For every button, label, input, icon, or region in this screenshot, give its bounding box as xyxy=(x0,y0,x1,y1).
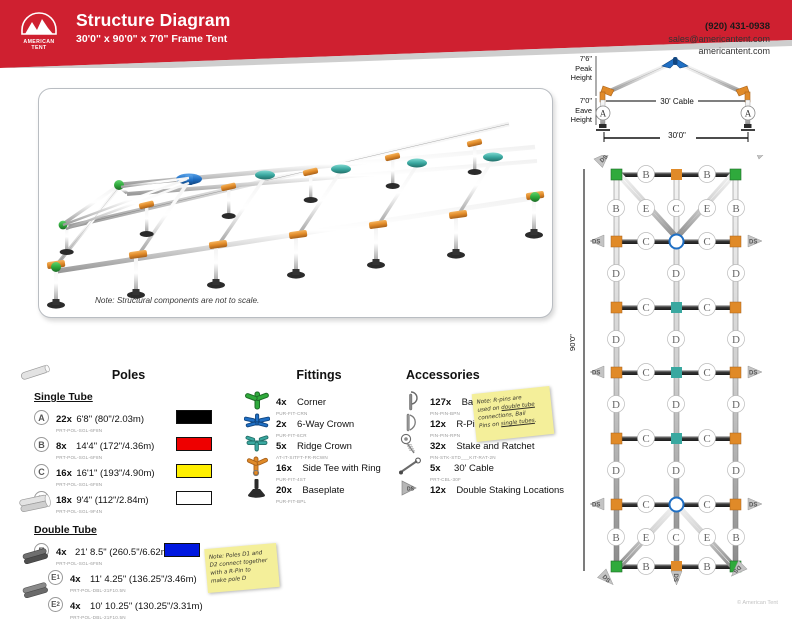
stake-and-ratchet-icon xyxy=(398,433,424,455)
footer-copyright: © American Tent xyxy=(737,600,778,606)
double-tube-heading: Double Tube xyxy=(34,524,241,536)
svg-text:E: E xyxy=(643,532,650,544)
svg-text:C: C xyxy=(703,499,710,511)
baseplate-icon xyxy=(244,477,270,499)
fitting-row-six-way-crown: 2x 6-Way Crown PUR-FIT-6CR xyxy=(244,413,394,435)
elevation-post-code-left: A xyxy=(600,109,607,119)
pole-desc-e2: 10' 10.25" (130.25"/3.31m) xyxy=(90,601,203,612)
pole-pn-c: PRT-POL-SGL-6F8N xyxy=(56,481,155,488)
pole-pn-a: PRT-POL-SGL-6F8N xyxy=(56,427,144,434)
pole-pn-e2: PRT-POL-DBL-21F10.5N xyxy=(70,614,203,621)
fitting-pn-baseplate: PUR-FIT-BPL xyxy=(276,498,345,505)
pole-pn-e: PRT-POL-SGL-6F8N xyxy=(56,560,172,567)
pole-pn-e1: PRT-POL-DBL-21F10.5N xyxy=(70,587,197,594)
svg-text:C: C xyxy=(672,532,679,544)
accessory-qty-stake-ratchet: 32x xyxy=(430,441,446,452)
fitting-desc-ridge-crown: Ridge Crown xyxy=(297,441,352,452)
pole-row-a: A 22x 6'8" (80"/2.03m) PRT-POL-SGL-6F8N xyxy=(16,408,241,435)
contact-email[interactable]: sales@americantent.com xyxy=(668,33,770,45)
accessory-qty-bail-pin: 127x xyxy=(430,397,451,408)
pole-desc-b: 14'4" (172"/4.36m) xyxy=(76,441,154,452)
pole-desc-c: 16'1" (193"/4.90m) xyxy=(76,468,154,479)
svg-text:D: D xyxy=(732,334,740,346)
plan-drawing: B B E E B C B C C D D D C C D D D C C xyxy=(566,155,788,585)
pole-row-b: B 8x 14'4" (172"/4.36m) PRT-POL-SGL-6F8N xyxy=(16,435,241,462)
poles-column: Poles Single Tube A 22x 6'8" (80"/2.03m)… xyxy=(16,368,241,622)
title-block: Structure Diagram 30'0" x 90'0" x 7'0" F… xyxy=(76,9,230,46)
fitting-row-ridge-crown: 5x Ridge Crown AT-IT-SITFT-FR-RCWN xyxy=(244,435,394,457)
pole-code-c: C xyxy=(34,464,49,479)
eave-height-value: 7'0" xyxy=(546,96,592,106)
elevation-view: A A 30'0" 30' Cable 7'6" Peak Height 7'0… xyxy=(570,52,785,147)
svg-text:D: D xyxy=(612,268,620,280)
fitting-qty-baseplate: 20x xyxy=(276,485,292,496)
svg-text:B: B xyxy=(612,532,619,544)
svg-text:B: B xyxy=(612,203,619,215)
svg-text:C: C xyxy=(642,367,649,379)
eave-height-label: Eave xyxy=(546,106,592,116)
pole-desc-d: 9'4" (112"/2.84m) xyxy=(76,495,148,506)
peak-height-label-group: 7'6" Peak Height xyxy=(546,54,592,83)
elevation-drawing: A A 30'0" 30' Cable xyxy=(570,52,785,147)
fitting-qty-ridge-crown: 5x xyxy=(276,441,287,452)
cable-icon xyxy=(398,455,424,477)
tent-frame-3d-drawing xyxy=(39,89,552,317)
svg-text:B: B xyxy=(703,169,710,181)
plan-view: 90'0" xyxy=(566,155,788,585)
svg-text:C: C xyxy=(703,367,710,379)
american-tent-logo: AMERICAN TENT xyxy=(14,9,64,55)
svg-text:B: B xyxy=(642,169,649,181)
svg-text:D: D xyxy=(732,399,740,411)
fitting-desc-side-tee: Side Tee with Ring xyxy=(302,463,381,474)
accessory-row-double-staking: DS 12x Double Staking Locations xyxy=(398,479,578,501)
fitting-desc-corner: Corner xyxy=(297,397,326,408)
accessories-heading: Accessories xyxy=(398,368,578,382)
svg-text:D: D xyxy=(732,268,740,280)
accessory-qty-r-pin: 12x xyxy=(430,419,446,430)
fitting-desc-baseplate: Baseplate xyxy=(302,485,344,496)
svg-text:C: C xyxy=(703,236,710,248)
pole-pn-b: PRT-POL-SGL-6F8N xyxy=(56,454,154,461)
side-tee-with-ring-icon xyxy=(244,455,270,477)
elevation-post-code-right: A xyxy=(745,109,752,119)
svg-text:D: D xyxy=(672,268,680,280)
accessories-column: Accessories 127x Bail Pin PIN-PIN-BPN 12… xyxy=(398,368,578,501)
svg-text:D: D xyxy=(612,399,620,411)
page-title: Structure Diagram xyxy=(76,9,230,31)
pole-desc-e: 21' 8.5" (260.5"/6.62m) xyxy=(75,547,172,558)
svg-text:B: B xyxy=(732,203,739,215)
svg-text:D: D xyxy=(732,465,740,477)
pole-qty-a: 22x xyxy=(56,414,72,425)
svg-text:D: D xyxy=(672,465,680,477)
svg-text:C: C xyxy=(642,302,649,314)
double-tube-icon xyxy=(18,493,54,513)
double-staking-icon: DS xyxy=(398,477,424,499)
logo-text-bottom: TENT xyxy=(31,45,47,51)
eave-height-label-2: Height xyxy=(546,115,592,125)
fittings-heading: Fittings xyxy=(244,368,394,382)
fitting-qty-corner: 4x xyxy=(276,397,287,408)
single-tube-heading: Single Tube xyxy=(34,391,241,403)
pole-qty-b: 8x xyxy=(56,441,67,452)
pole-color-swatch-a xyxy=(176,410,212,424)
pole-color-swatch-c xyxy=(176,464,212,478)
svg-text:C: C xyxy=(703,433,710,445)
accessories-sticky-note: Note: R-pins are used on double tube con… xyxy=(472,386,555,442)
pole-color-swatch-b xyxy=(176,437,212,451)
eave-height-label-group: 7'0" Eave Height xyxy=(546,96,592,125)
pole-color-swatch-e xyxy=(164,543,200,557)
page-subtitle: 30'0" x 90'0" x 7'0" Frame Tent xyxy=(76,32,230,46)
pole-desc-e1: 11' 4.25" (136.25"/3.46m) xyxy=(90,574,197,585)
accessory-desc-double-staking: Double Staking Locations xyxy=(456,485,564,496)
svg-text:C: C xyxy=(672,203,679,215)
svg-text:DS: DS xyxy=(407,487,415,493)
peak-height-value: 7'6" xyxy=(546,54,592,64)
six-way-crown-icon xyxy=(244,411,270,433)
svg-text:DS: DS xyxy=(592,371,600,377)
svg-text:E: E xyxy=(704,532,711,544)
pole-pn-d: PRT-POL-SGL-9F4N xyxy=(56,508,149,515)
svg-text:C: C xyxy=(703,302,710,314)
pole-qty-e2: 4x xyxy=(70,601,81,612)
pole-qty-c: 16x xyxy=(56,468,72,479)
pole-desc-a: 6'8" (80"/2.03m) xyxy=(76,414,144,425)
fitting-row-side-tee: 16x Side Tee with Ring PUR-FIT-4ST xyxy=(244,457,394,479)
svg-text:C: C xyxy=(642,499,649,511)
accessory-desc-cable: 30' Cable xyxy=(454,463,494,474)
iso-scale-note: Note: Structural components are not to s… xyxy=(95,296,259,305)
svg-text:B: B xyxy=(732,532,739,544)
svg-text:DS: DS xyxy=(672,574,678,582)
svg-text:D: D xyxy=(672,399,680,411)
svg-text:E: E xyxy=(643,203,650,215)
svg-text:B: B xyxy=(642,561,649,573)
plan-length-dimension: 90'0" xyxy=(568,334,577,351)
pole-color-swatch-d xyxy=(176,491,212,505)
pole-code-e2: E2 xyxy=(48,597,63,612)
corner-fitting-icon xyxy=(244,389,270,411)
bail-pin-icon xyxy=(398,389,424,411)
isometric-view-panel: Note: Structural components are not to s… xyxy=(38,88,553,318)
svg-text:D: D xyxy=(672,334,680,346)
fitting-qty-side-tee: 16x xyxy=(276,463,292,474)
fitting-desc-six-way-crown: 6-Way Crown xyxy=(297,419,354,430)
pole-code-a: A xyxy=(34,410,49,425)
svg-text:DS: DS xyxy=(749,503,757,509)
fitting-row-corner: 4x Corner PUR-FIT-CRN xyxy=(244,391,394,413)
ridge-crown-icon xyxy=(244,433,270,455)
peak-height-label: Peak xyxy=(546,64,592,74)
fitting-qty-six-way-crown: 2x xyxy=(276,419,287,430)
poles-sticky-note: Note: Poles D1 and D2 connect together w… xyxy=(204,543,280,593)
contact-phone[interactable]: (920) 431-0938 xyxy=(668,20,770,33)
svg-text:DS: DS xyxy=(592,503,600,509)
peak-height-label-2: Height xyxy=(546,73,592,83)
elevation-cable-label: 30' Cable xyxy=(660,97,694,106)
single-tube-icon xyxy=(18,364,52,382)
elevation-width-label: 30'0" xyxy=(668,131,686,140)
accessory-qty-double-staking: 12x xyxy=(430,485,446,496)
svg-text:C: C xyxy=(642,433,649,445)
accessory-qty-cable: 5x xyxy=(430,463,441,474)
pole-code-b: B xyxy=(34,437,49,452)
svg-text:DS: DS xyxy=(749,371,757,377)
svg-text:B: B xyxy=(703,561,710,573)
pole-qty-e1: 4x xyxy=(70,574,81,585)
pole-qty-e: 4x xyxy=(56,547,67,558)
fitting-row-baseplate: 20x Baseplate PUR-FIT-BPL xyxy=(244,479,394,501)
pole-qty-d: 18x xyxy=(56,495,72,506)
svg-text:DS: DS xyxy=(592,240,600,246)
svg-text:D: D xyxy=(612,465,620,477)
pole-row-c: C 16x 16'1" (193"/4.90m) PRT-POL-SGL-6F8… xyxy=(16,462,241,489)
accessory-desc-stake-ratchet: Stake and Ratchet xyxy=(456,441,534,452)
accessory-row-cable: 5x 30' Cable PRT-CBL-30F xyxy=(398,457,578,479)
svg-text:C: C xyxy=(642,236,649,248)
fittings-column: Fittings 4x Corner PUR-FIT-CRN xyxy=(244,368,394,501)
svg-text:DS: DS xyxy=(749,240,757,246)
svg-text:E: E xyxy=(704,203,711,215)
r-pin-icon xyxy=(398,411,424,433)
pole-row-e2: E2 4x 10' 10.25" (130.25"/3.31m) PRT-POL… xyxy=(30,595,241,622)
svg-text:D: D xyxy=(612,334,620,346)
double-tube-half-icon-1 xyxy=(20,546,52,564)
